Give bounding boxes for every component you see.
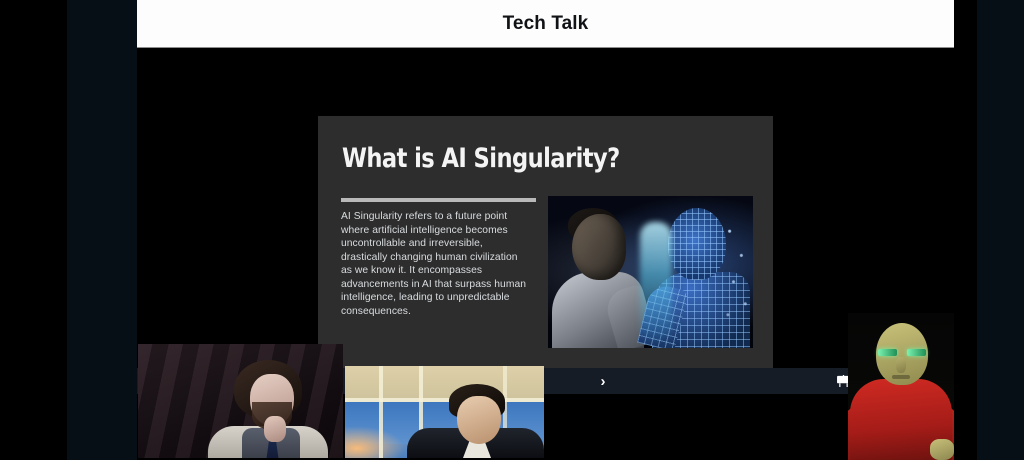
- tile-window-frame-vertical-1: [379, 366, 383, 458]
- meeting-title: Tech Talk: [503, 13, 589, 35]
- next-slide-button[interactable]: ›: [587, 368, 619, 394]
- tile-window-sunlight: [345, 426, 405, 458]
- illustration-human-head: [572, 214, 626, 280]
- glasses-lens-left: [878, 349, 897, 356]
- meeting-window: Tech Talk What is AI Singularity? AI Sin…: [0, 0, 1024, 460]
- tile-window-frame-horizontal: [345, 398, 544, 402]
- chevron-right-icon: ›: [601, 373, 606, 390]
- participant-glasses: [878, 349, 926, 356]
- backdrop-right-navy: [977, 0, 1024, 460]
- meeting-header: Tech Talk: [137, 0, 954, 48]
- illustration-touch-glow: [640, 222, 672, 340]
- participant-tile-speaker-1[interactable]: [138, 344, 343, 458]
- slide-body-text: AI Singularity refers to a future point …: [341, 210, 526, 319]
- slide-divider: [341, 198, 536, 202]
- participant-mouth: [892, 375, 910, 379]
- participant-hand: [264, 416, 286, 442]
- illustration-ai-head: [668, 208, 726, 280]
- participant-hand: [930, 439, 954, 460]
- shared-slide[interactable]: What is AI Singularity? AI Singularity r…: [318, 116, 773, 369]
- slide-title: What is AI Singularity?: [342, 143, 620, 174]
- glasses-lens-right: [907, 349, 926, 356]
- participant-face: [457, 396, 501, 444]
- participant-tile-speaker-3[interactable]: [848, 313, 954, 460]
- slide-illustration-human-and-ai: [548, 196, 753, 348]
- participant-tile-speaker-2[interactable]: [345, 366, 544, 458]
- backdrop-left-navy: [67, 0, 137, 460]
- participant-nose: [896, 357, 906, 373]
- illustration-particles: [724, 218, 752, 328]
